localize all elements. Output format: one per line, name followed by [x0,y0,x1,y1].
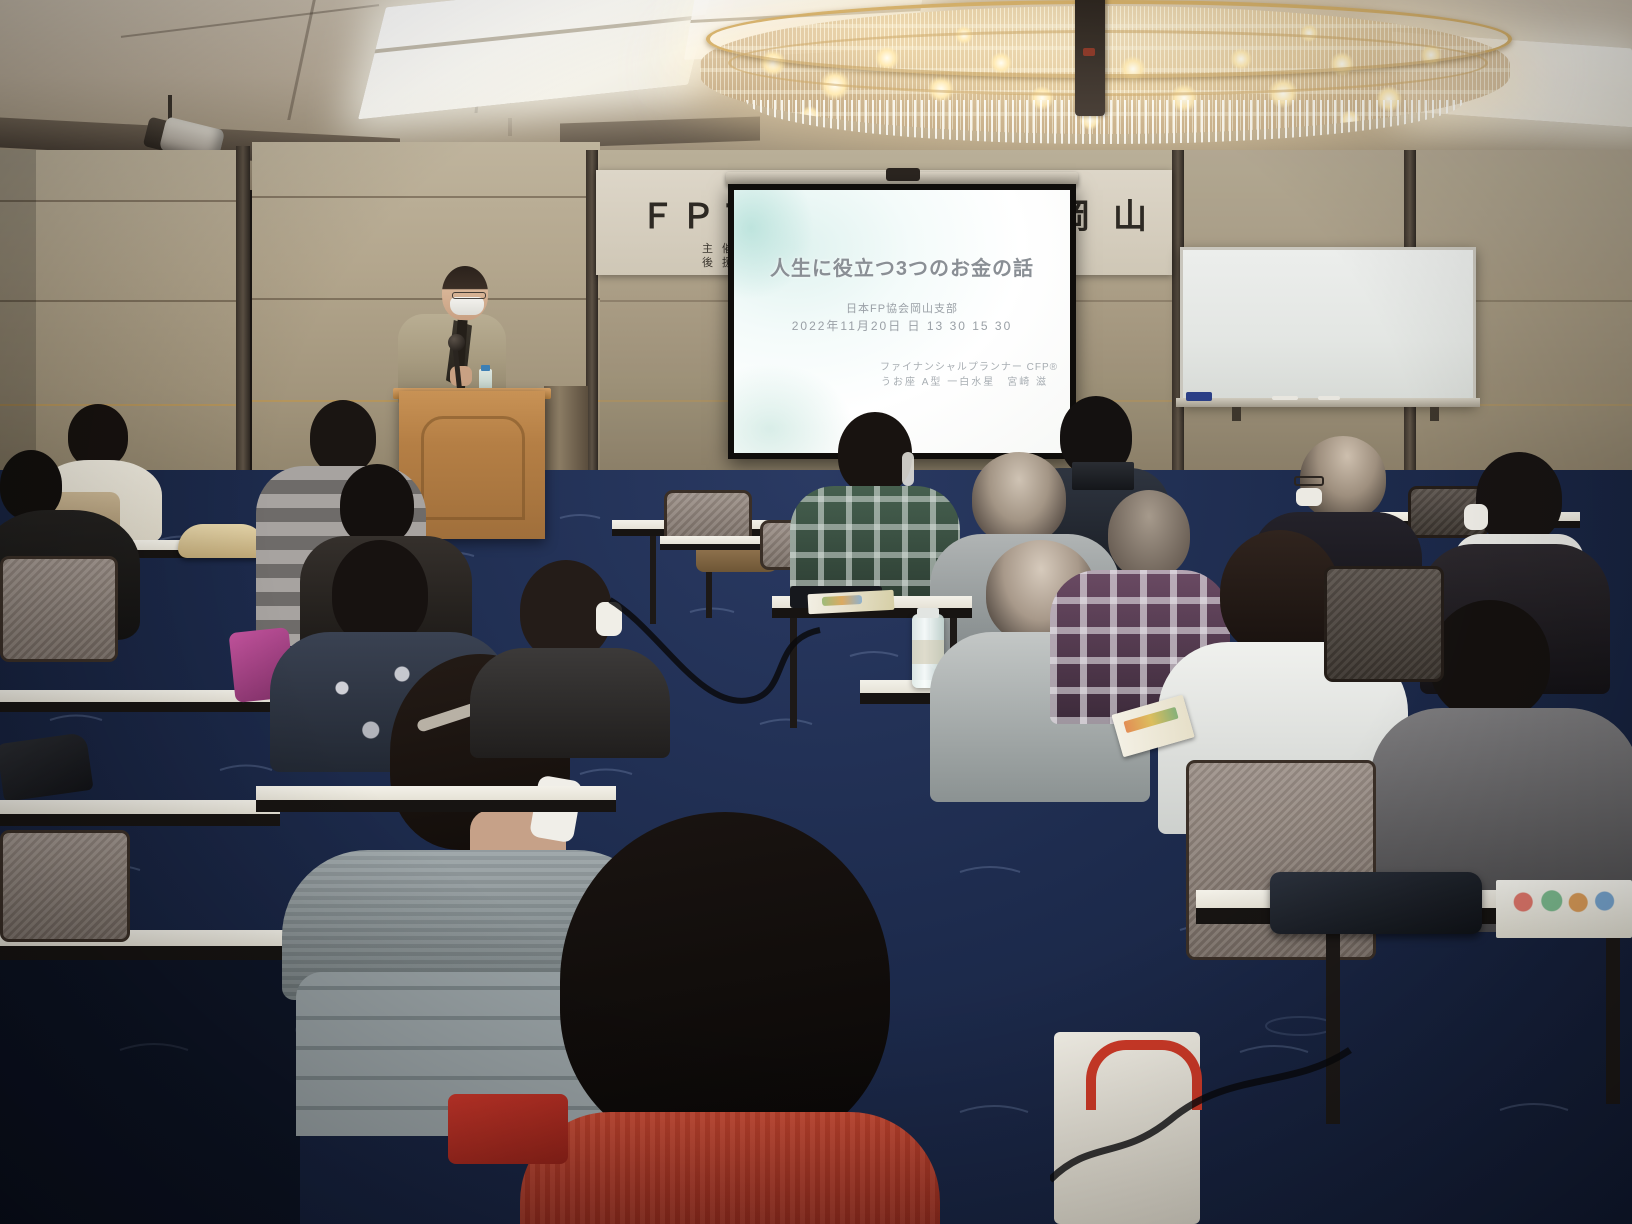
chandelier-crystal-fringe [746,100,1464,144]
glasses [1294,476,1324,486]
mask [596,602,622,636]
table-leg [1326,924,1340,1124]
whiteboard-leg [1232,407,1241,421]
wall-divider [236,146,250,496]
slide-date: 2022年11月20日 日 13 30 15 30 [734,317,1070,334]
head [332,540,428,646]
bottle-cap [481,365,490,371]
chandelier-brass-rim-inner [728,30,1488,96]
mask [1464,504,1488,530]
chair-right-front [1186,760,1376,970]
head [340,464,414,546]
slide-presenter: うお座 A型 一白水星 宮崎 滋 [881,373,1048,388]
speaker-mask [450,297,484,315]
whiteboard [1180,247,1476,404]
head [838,412,912,494]
table-leg [790,618,797,728]
speaker-glasses [452,292,486,299]
straw-hat [178,524,266,558]
microphone-head [448,334,465,351]
whiteboard-marker [1318,396,1340,400]
torso [470,648,670,758]
wall-seam [0,300,250,302]
table-leg [1606,924,1620,1104]
red-pouch [448,1094,568,1164]
head [1476,452,1562,544]
whiteboard-leg [1430,407,1439,421]
chandelier-stem-marker [1083,48,1095,56]
whiteboard-eraser [1186,392,1212,401]
whiteboard-marker [1272,396,1298,400]
chair-right-mid [1324,566,1444,686]
wall-seam [0,200,250,202]
chair-left-front [0,830,130,950]
wall-shadow [0,150,36,490]
mask-strap [902,452,914,486]
slide-title: 人生に役立つ3つのお金の話 [734,252,1070,281]
wall-seam [252,196,600,198]
table-left-front [0,800,280,826]
person-red-sweater [520,812,940,1224]
slide-background-wash [734,190,814,300]
slide-organization: 日本FP協会岡山支部 [734,300,1070,316]
table-foreground-left [256,786,616,812]
seminar-room-photo: ＦＰフ 岡 山 主 催 後 援 人生に役立つ3つのお金の話 日本FP協会岡山支部… [0,0,1632,1224]
black-bag [1270,872,1482,934]
chandelier [700,0,1510,168]
head [1430,600,1550,720]
shopping-bag-handle [1086,1040,1202,1110]
head [310,400,376,474]
slide-role: ファイナンシャルプランナー CFP® [880,358,1058,373]
foreground-shadow [0,960,300,1224]
ceiling-seam [508,118,512,136]
head [560,812,890,1152]
mask [1296,488,1322,506]
screen-knob [886,168,920,181]
chandelier-stem [1075,0,1105,116]
brochure-graphic [1510,890,1620,914]
chair-left [0,556,118,666]
person-dark-foreground-left [470,560,670,750]
head [1220,530,1340,656]
torso [520,1112,940,1224]
